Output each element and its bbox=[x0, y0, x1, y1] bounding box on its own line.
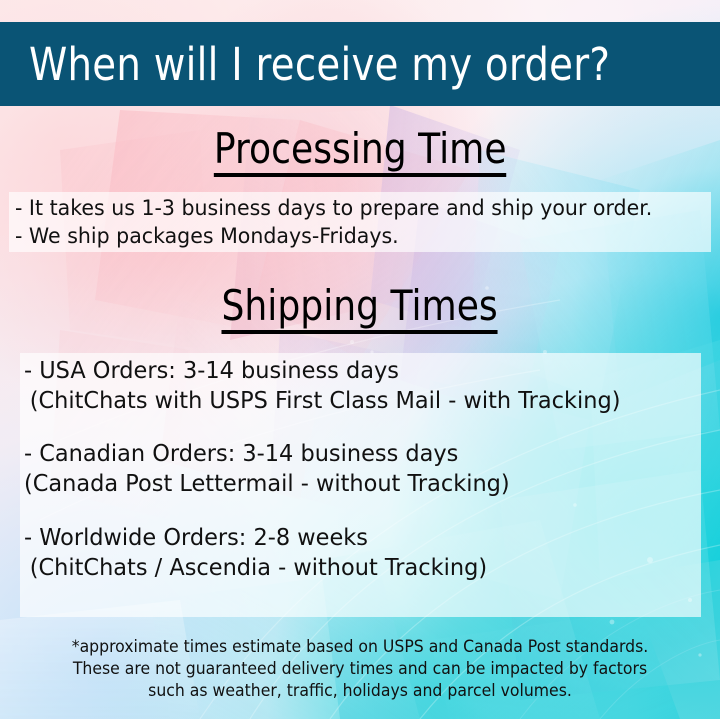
shipping-group-sub: (Canada Post Lettermail - without Tracki… bbox=[24, 470, 683, 498]
shipping-group-worldwide: - Worldwide Orders: 2-8 weeks (ChitChats… bbox=[24, 524, 714, 581]
footer-disclaimer: *approximate times estimate based on USP… bbox=[0, 636, 720, 702]
footer-disclaimer-line: These are not guaranteed delivery times … bbox=[18, 658, 702, 680]
processing-time-list: - It takes us 1-3 business days to prepa… bbox=[15, 196, 715, 253]
infographic-root: When will I receive my order? Processing… bbox=[0, 0, 720, 719]
shipping-group-sub: (ChitChats with USPS First Class Mail - … bbox=[24, 387, 683, 415]
footer-disclaimer-line: such as weather, traffic, holidays and p… bbox=[18, 680, 702, 702]
header-banner: When will I receive my order? bbox=[0, 22, 720, 106]
shipping-group-main: - USA Orders: 3-14 business days bbox=[24, 357, 683, 385]
footer-disclaimer-line: *approximate times estimate based on USP… bbox=[18, 636, 702, 658]
shipping-times-list: - USA Orders: 3-14 business days (ChitCh… bbox=[24, 357, 714, 583]
shipping-group-usa: - USA Orders: 3-14 business days (ChitCh… bbox=[24, 357, 714, 414]
page-title: When will I receive my order? bbox=[29, 42, 610, 87]
shipping-group-main: - Worldwide Orders: 2-8 weeks bbox=[24, 524, 683, 552]
shipping-times-heading-text: Shipping Times bbox=[222, 285, 498, 334]
shipping-group-main: - Canadian Orders: 3-14 business days bbox=[24, 440, 683, 468]
shipping-times-heading: Shipping Times bbox=[0, 285, 720, 334]
processing-time-line: - We ship packages Mondays-Fridays. bbox=[15, 224, 684, 249]
processing-time-line: - It takes us 1-3 business days to prepa… bbox=[15, 196, 684, 221]
processing-time-heading: Processing Time bbox=[0, 128, 720, 177]
shipping-group-canada: - Canadian Orders: 3-14 business days (C… bbox=[24, 440, 714, 497]
shipping-group-sub: (ChitChats / Ascendia - without Tracking… bbox=[24, 554, 683, 582]
processing-time-heading-text: Processing Time bbox=[214, 128, 507, 177]
